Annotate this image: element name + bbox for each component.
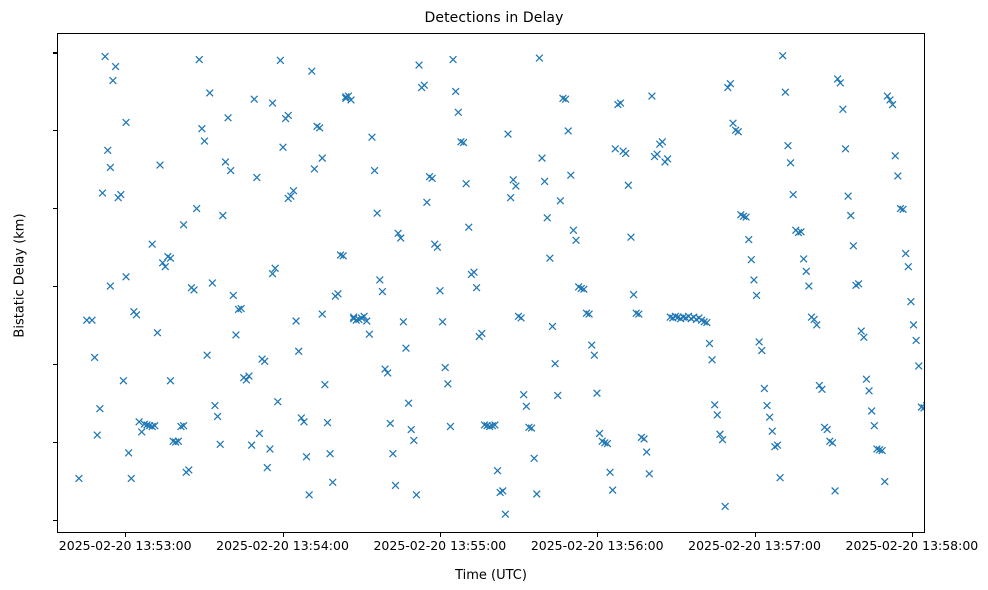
scatter-point — [845, 193, 852, 200]
scatter-point — [646, 470, 653, 477]
scatter-point — [201, 138, 208, 145]
scatter-point — [866, 387, 873, 394]
scatter-point — [382, 366, 389, 373]
scatter-point — [902, 250, 909, 257]
scatter-point — [400, 318, 407, 325]
scatter-point — [107, 283, 114, 290]
scatter-point — [756, 339, 763, 346]
y-tick-labels: 0102030405060 — [0, 0, 57, 590]
scatter-point — [91, 354, 98, 361]
scatter-point — [612, 145, 619, 152]
scatter-point — [494, 467, 501, 474]
scatter-point — [204, 352, 211, 359]
scatter-point — [227, 167, 234, 174]
scatter-point — [868, 408, 875, 415]
scatter-points-layer — [58, 34, 924, 532]
scatter-point — [295, 348, 302, 355]
scatter-point — [745, 236, 752, 243]
scatter-point — [293, 318, 300, 325]
scatter-point — [557, 197, 564, 204]
scatter-point — [319, 311, 326, 318]
scatter-point — [829, 439, 836, 446]
scatter-point — [369, 134, 376, 141]
scatter-point — [285, 112, 292, 119]
scatter-point — [384, 370, 391, 377]
scatter-point — [439, 318, 446, 325]
scatter-point — [824, 426, 831, 433]
scatter-point — [819, 386, 826, 393]
scatter-point — [512, 183, 519, 190]
scatter-point — [413, 491, 420, 498]
scatter-point — [246, 373, 253, 380]
scatter-point — [594, 390, 601, 397]
scatter-point — [753, 292, 760, 299]
scatter-point — [306, 491, 313, 498]
scatter-point — [193, 205, 200, 212]
scatter-point — [159, 259, 166, 266]
scatter-point — [403, 345, 410, 352]
scatter-point — [128, 475, 135, 482]
scatter-point — [505, 131, 512, 138]
scatter-point — [764, 402, 771, 409]
scatter-point — [94, 432, 101, 439]
scatter-point — [280, 144, 287, 151]
scatter-point — [267, 446, 274, 453]
x-tick-mark — [440, 533, 441, 537]
scatter-point — [714, 411, 721, 418]
scatter-point — [225, 114, 232, 121]
scatter-point — [274, 398, 281, 405]
scatter-point — [149, 241, 156, 248]
scatter-point — [206, 90, 213, 97]
scatter-point — [834, 76, 841, 83]
scatter-point — [539, 155, 546, 162]
scatter-point — [248, 442, 255, 449]
scatter-point — [520, 391, 527, 398]
x-tick-label: 2025-02-20 13:57:00 — [688, 538, 821, 553]
scatter-point — [607, 469, 614, 476]
scatter-point — [376, 277, 383, 284]
scatter-point — [219, 212, 226, 219]
scatter-point — [277, 57, 284, 64]
scatter-point — [324, 419, 331, 426]
scatter-point — [908, 298, 915, 305]
scatter-point — [546, 255, 553, 262]
x-tick-mark — [755, 533, 756, 537]
scatter-point — [570, 227, 577, 234]
scatter-point — [507, 194, 514, 201]
scatter-point — [910, 322, 917, 329]
scatter-point — [261, 358, 268, 365]
scatter-point — [541, 178, 548, 185]
scatter-point — [499, 488, 506, 495]
scatter-point — [209, 280, 216, 287]
scatter-point — [185, 467, 192, 474]
scatter-point — [138, 429, 145, 436]
scatter-point — [840, 106, 847, 113]
scatter-point — [133, 311, 140, 318]
scatter-point — [881, 478, 888, 485]
scatter-point — [837, 79, 844, 86]
scatter-point — [549, 323, 556, 330]
scatter-point — [544, 214, 551, 221]
scatter-point — [107, 164, 114, 171]
scatter-point — [387, 420, 394, 427]
scatter-point — [510, 176, 517, 183]
scatter-point — [465, 224, 472, 231]
x-tick-label: 2025-02-20 13:53:00 — [59, 538, 192, 553]
scatter-point — [659, 138, 666, 145]
scatter-point — [664, 156, 671, 163]
scatter-point — [442, 364, 449, 371]
scatter-point — [894, 173, 901, 180]
scatter-point — [199, 125, 206, 132]
scatter-point — [447, 423, 454, 430]
scatter-point — [154, 329, 161, 336]
x-tick-mark — [283, 533, 284, 537]
scatter-point — [327, 450, 334, 457]
scatter-point — [892, 152, 899, 159]
scatter-point — [860, 334, 867, 341]
scatter-point — [502, 511, 509, 518]
scatter-point — [735, 128, 742, 135]
scatter-point — [217, 441, 224, 448]
scatter-point — [722, 503, 729, 510]
scatter-point — [429, 175, 436, 182]
scatter-point — [76, 475, 83, 482]
scatter-point — [374, 210, 381, 217]
scatter-point — [256, 430, 263, 437]
scatter-point — [751, 277, 758, 284]
scatter-point — [769, 428, 776, 435]
scatter-point — [125, 449, 132, 456]
scatter-point — [89, 317, 96, 324]
scatter-point — [523, 403, 530, 410]
scatter-point — [308, 68, 315, 75]
scatter-point — [180, 221, 187, 228]
scatter-point — [408, 426, 415, 433]
scatter-point — [473, 284, 480, 291]
scatter-point — [112, 63, 119, 70]
chart-title: Detections in Delay — [0, 10, 988, 26]
scatter-point — [196, 56, 203, 63]
scatter-point — [471, 269, 478, 276]
scatter-point — [847, 212, 854, 219]
x-tick-mark — [125, 533, 126, 537]
scatter-point — [884, 93, 891, 100]
scatter-point — [748, 256, 755, 263]
scatter-point — [117, 191, 124, 198]
scatter-point — [758, 347, 765, 354]
scatter-point — [298, 415, 305, 422]
scatter-point — [455, 109, 462, 116]
scatter-point — [641, 436, 648, 443]
scatter-point — [264, 464, 271, 471]
scatter-point — [311, 166, 318, 173]
x-tick-label: 2025-02-20 13:58:00 — [845, 538, 978, 553]
scatter-point — [630, 291, 637, 298]
scatter-point — [99, 190, 106, 197]
scatter-point — [531, 455, 538, 462]
scatter-point — [301, 418, 308, 425]
scatter-point — [444, 380, 451, 387]
scatter-point — [157, 162, 164, 169]
scatter-point — [416, 62, 423, 69]
scatter-point — [392, 482, 399, 489]
scatter-point — [191, 287, 198, 294]
scatter-point — [850, 242, 857, 249]
scatter-point — [123, 273, 130, 280]
scatter-point — [591, 352, 598, 359]
scatter-point — [777, 474, 784, 481]
scatter-point — [785, 142, 792, 149]
scatter-point — [625, 182, 632, 189]
scatter-point — [421, 82, 428, 89]
scatter-point — [243, 377, 250, 384]
plot-area — [57, 33, 925, 533]
scatter-point — [167, 377, 174, 384]
scatter-point — [233, 332, 240, 339]
x-tick-label: 2025-02-20 13:55:00 — [373, 538, 506, 553]
x-tick-mark — [597, 533, 598, 537]
scatter-point — [800, 256, 807, 263]
x-tick-label: 2025-02-20 13:54:00 — [216, 538, 349, 553]
scatter-point — [913, 337, 920, 344]
scatter-point — [706, 340, 713, 347]
scatter-point — [96, 405, 103, 412]
scatter-point — [790, 191, 797, 198]
scatter-point — [842, 145, 849, 152]
scatter-point — [410, 437, 417, 444]
scatter-point — [855, 280, 862, 287]
scatter-point — [463, 180, 470, 187]
scatter-point — [871, 422, 878, 429]
scatter-point — [805, 283, 812, 290]
scatter-point — [123, 119, 130, 126]
scatter-point — [120, 377, 127, 384]
scatter-point — [104, 147, 111, 154]
scatter-point — [303, 453, 310, 460]
scatter-point — [552, 360, 559, 367]
scatter-point — [251, 96, 258, 103]
scatter-point — [366, 331, 373, 338]
scatter-point — [379, 288, 386, 295]
scatter-point — [162, 263, 169, 270]
scatter-point — [596, 430, 603, 437]
scatter-point — [761, 385, 768, 392]
scatter-point — [649, 93, 656, 100]
scatter-point — [389, 450, 396, 457]
scatter-point — [573, 237, 580, 244]
scatter-point — [518, 315, 525, 322]
scatter-point — [565, 128, 572, 135]
scatter-point — [779, 52, 786, 59]
scatter-point — [450, 56, 457, 63]
scatter-point — [730, 120, 737, 127]
scatter-point — [214, 413, 221, 420]
scatter-point — [167, 255, 174, 262]
scatter-point — [230, 292, 237, 299]
scatter-point — [567, 172, 574, 179]
scatter-point — [533, 491, 540, 498]
scatter-point — [711, 401, 718, 408]
scatter-point — [816, 382, 823, 389]
scatter-point — [782, 89, 789, 96]
scatter-point — [609, 487, 616, 494]
scatter-point — [371, 167, 378, 174]
x-tick-mark — [912, 533, 913, 537]
scatter-point — [335, 290, 342, 297]
scatter-point — [709, 356, 716, 363]
scatter-point — [222, 159, 229, 166]
scatter-point — [863, 376, 870, 383]
scatter-point — [434, 244, 441, 251]
scatter-point — [316, 124, 323, 131]
scatter-point — [212, 402, 219, 409]
scatter-point — [766, 414, 773, 421]
scatter-point — [588, 342, 595, 349]
scatter-point — [452, 88, 459, 95]
scatter-point — [424, 199, 431, 206]
x-axis-label: Time (UTC) — [57, 568, 925, 583]
scatter-point — [405, 400, 412, 407]
scatter-point — [329, 479, 336, 486]
scatter-point — [643, 449, 650, 456]
scatter-point — [269, 100, 276, 107]
scatter-point — [787, 159, 794, 166]
scatter-point — [102, 53, 109, 60]
scatter-point — [832, 488, 839, 495]
scatter-point — [803, 268, 810, 275]
scatter-point — [110, 77, 117, 84]
scatter-point — [437, 287, 444, 294]
x-tick-label: 2025-02-20 13:56:00 — [531, 538, 664, 553]
scatter-point — [727, 80, 734, 87]
scatter-point — [915, 363, 922, 370]
scatter-point — [858, 328, 865, 335]
scatter-point — [622, 150, 629, 157]
scatter-point — [654, 151, 661, 158]
scatter-point — [319, 155, 326, 162]
scatter-point — [774, 442, 781, 449]
matplotlib-figure: Detections in Delay Bistatic Delay (km) … — [0, 0, 988, 590]
scatter-point — [617, 100, 624, 107]
scatter-point — [628, 234, 635, 241]
scatter-point — [554, 392, 561, 399]
scatter-point — [724, 84, 731, 91]
scatter-point — [253, 174, 260, 181]
scatter-point — [478, 330, 485, 337]
scatter-point — [905, 263, 912, 270]
scatter-point — [321, 381, 328, 388]
scatter-point — [536, 55, 543, 62]
